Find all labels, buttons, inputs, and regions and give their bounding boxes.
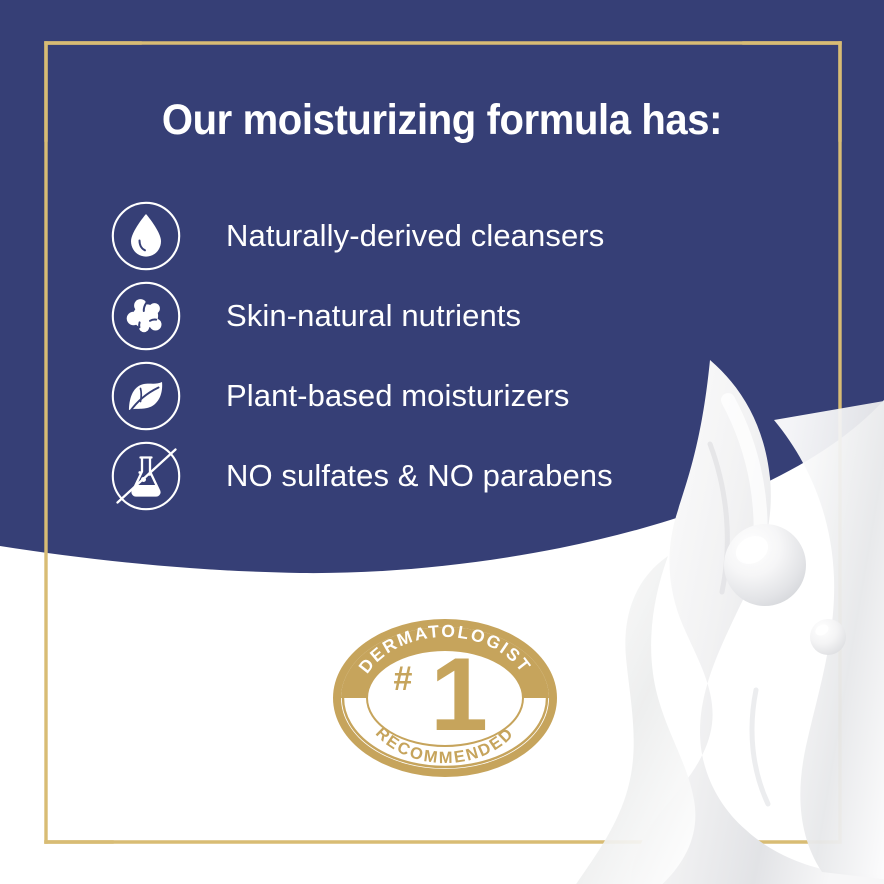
list-item: Skin-natural nutrients	[110, 276, 810, 356]
list-item: NO sulfates & NO parabens	[110, 436, 810, 516]
water-drop-icon	[110, 200, 182, 272]
badge-rank-number: 1	[430, 637, 488, 753]
list-item-label: Naturally-derived cleansers	[226, 218, 604, 254]
list-item-label: Skin-natural nutrients	[226, 298, 521, 334]
cream-droplet-small	[810, 619, 846, 655]
badge-hash-symbol: #	[394, 660, 413, 698]
cream-droplet-large	[724, 524, 806, 606]
list-item: Naturally-derived cleansers	[110, 196, 810, 276]
no-chemicals-flask-icon	[110, 440, 182, 512]
list-item-label: Plant-based moisturizers	[226, 378, 570, 414]
list-item-label: NO sulfates & NO parabens	[226, 458, 613, 494]
product-benefits-graphic: Our moisturizing formula has: Naturally-…	[0, 0, 884, 884]
list-item: Plant-based moisturizers	[110, 356, 810, 436]
molecule-nutrients-icon	[110, 280, 182, 352]
dermatologist-recommended-badge: DERMATOLOGIST RECOMMENDED # 1	[331, 617, 559, 779]
page-title: Our moisturizing formula has:	[31, 96, 853, 145]
leaf-icon	[110, 360, 182, 432]
benefit-list: Naturally-derived cleansers	[110, 196, 810, 516]
